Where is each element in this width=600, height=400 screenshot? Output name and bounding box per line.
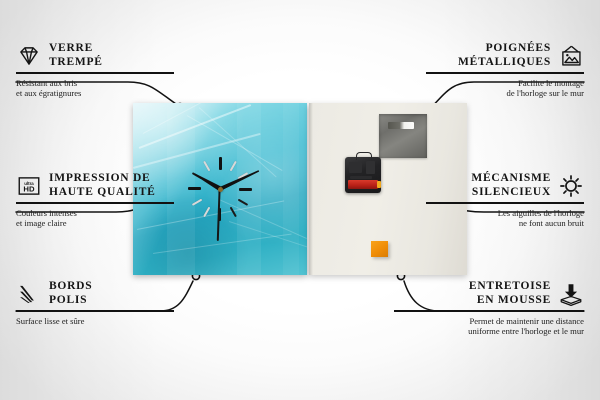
infographic-canvas: VERRE TREMPÉ Résistant aux bris et aux é… xyxy=(0,0,600,400)
gear-icon xyxy=(558,173,584,199)
feature-title-line2: HAUTE QUALITÉ xyxy=(49,186,156,200)
feature-verre-trempe: VERRE TREMPÉ Résistant aux bris et aux é… xyxy=(16,42,216,99)
feature-title-line1: ENTRETOISE xyxy=(469,280,551,294)
feature-desc-line2: uniforme entre l'horloge et le mur xyxy=(384,326,584,337)
feature-title-line1: POIGNÉES xyxy=(458,42,551,56)
feature-divider xyxy=(394,310,584,312)
feature-desc-line2: ne font aucun bruit xyxy=(384,218,584,229)
movement-detail xyxy=(349,162,362,173)
feature-impression-haute-qualite: ultra HD IMPRESSION DE HAUTE QUALITÉ Cou… xyxy=(16,172,216,229)
feature-divider xyxy=(16,310,174,312)
feature-desc-line2: et image claire xyxy=(16,218,216,229)
feature-title-line2: SILENCIEUX xyxy=(471,186,551,200)
feature-desc-line1: Les aiguilles de l'horloge xyxy=(384,208,584,219)
movement-detail xyxy=(366,161,375,174)
foam-spacer xyxy=(371,241,388,257)
clock-movement-box xyxy=(345,157,381,193)
foam-spacer-press-icon xyxy=(558,281,584,307)
movement-hook xyxy=(356,152,372,160)
clock-center-pin xyxy=(218,187,223,192)
feature-title-line2: MÉTALLIQUES xyxy=(458,56,551,70)
feature-desc-line2: de l'horloge sur le mur xyxy=(384,88,584,99)
feature-mecanisme-silencieux: MÉCANISME SILENCIEUX Les aiguilles de l'… xyxy=(384,172,584,229)
feature-desc-line1: Permet de maintenir une distance xyxy=(384,316,584,327)
feature-title-line1: BORDS xyxy=(49,280,92,294)
diamond-icon xyxy=(16,43,42,69)
hanger-slot xyxy=(388,122,414,129)
feature-divider xyxy=(16,202,174,204)
feature-title-line2: EN MOUSSE xyxy=(469,294,551,308)
framed-picture-hanging-icon xyxy=(558,43,584,69)
feature-divider xyxy=(426,202,584,204)
feature-desc-line1: Surface lisse et sûre xyxy=(16,316,216,327)
feature-divider xyxy=(16,72,174,74)
feature-entretoise-en-mousse: ENTRETOISE EN MOUSSE Permet de maintenir… xyxy=(384,280,584,337)
feature-title-line2: POLIS xyxy=(49,294,92,308)
feature-desc-line2: et aux égratignures xyxy=(16,88,216,99)
polished-edges-icon xyxy=(16,281,42,307)
feature-title-line2: TREMPÉ xyxy=(49,56,103,70)
feature-poignees-metalliques: POIGNÉES MÉTALLIQUES Facilite le montage… xyxy=(384,42,584,99)
feature-title-line1: VERRE xyxy=(49,42,103,56)
ultra-hd-large-label: HD xyxy=(23,184,35,193)
metal-hanger-plate xyxy=(379,114,427,158)
battery xyxy=(348,180,378,189)
movement-detail xyxy=(350,176,372,179)
feature-desc-line1: Résistant aux bris xyxy=(16,78,216,89)
feature-title-line1: MÉCANISME xyxy=(471,172,551,186)
feature-title-line1: IMPRESSION DE xyxy=(49,172,156,186)
feature-bords-polis: BORDS POLIS Surface lisse et sûre xyxy=(16,280,216,326)
feature-divider xyxy=(426,72,584,74)
feature-desc-line1: Facilite le montage xyxy=(384,78,584,89)
ultra-hd-icon: ultra HD xyxy=(16,173,42,199)
feature-desc-line1: Couleurs intenses xyxy=(16,208,216,219)
